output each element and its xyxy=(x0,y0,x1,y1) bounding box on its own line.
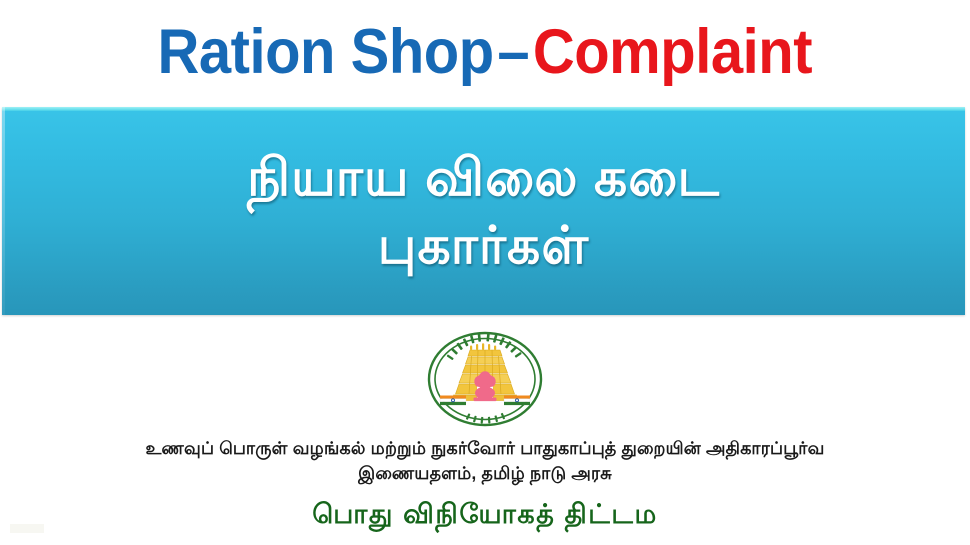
footer-caption-block: உணவுப் பொருள் வழங்கல் மற்றும் நுகர்வோர் … xyxy=(0,436,970,530)
page-title-bar: Ration Shop–Complaint xyxy=(0,0,970,104)
footer-caption-line-2: இணையதளம், தமிழ் நாடு அரசு xyxy=(358,461,612,486)
banner-headline-line-2: புகார்கள் xyxy=(378,213,589,281)
emblem-container xyxy=(0,327,970,431)
tamil-nadu-emblem-icon xyxy=(426,329,544,429)
banner-headline-line-1: நியாய விலை கடை xyxy=(247,145,720,213)
page-title-dash: – xyxy=(494,17,533,87)
page-title: Ration Shop–Complaint xyxy=(158,21,813,84)
footer-caption-line-1: உணவுப் பொருள் வழங்கல் மற்றும் நுகர்வோர் … xyxy=(145,436,824,461)
banner-text-block: நியாய விலை கடை புகார்கள் xyxy=(2,107,965,315)
page-title-primary: Ration Shop xyxy=(158,17,494,87)
footer-scheme-name: பொது விநியோகத் திட்டம xyxy=(312,498,658,530)
tamil-headline-banner: நியாய விலை கடை புகார்கள் xyxy=(2,107,965,315)
emblem-flag-right xyxy=(504,396,530,406)
page-title-accent: Complaint xyxy=(533,17,812,87)
emblem-flag-left xyxy=(440,396,466,406)
page-artifact xyxy=(10,524,44,533)
